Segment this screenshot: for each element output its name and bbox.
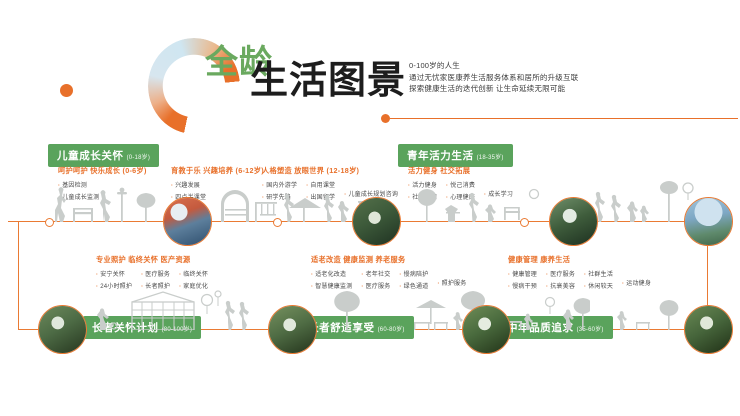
subtitle-line-1: 0-100岁的人生	[409, 60, 578, 72]
badge-children-label: 儿童成长关怀	[57, 150, 124, 162]
photo-elder-garden[interactable]	[684, 305, 733, 354]
bullet-column: 社群生活 休闲较天	[584, 269, 613, 290]
header-rule	[390, 118, 738, 119]
badge-children[interactable]: 儿童成长关怀(0-18岁)	[48, 144, 159, 167]
bullet-column: 医疗服务 抗衰美容	[546, 269, 575, 290]
badge-children-age: (0-18岁)	[127, 155, 150, 161]
block-heading: 适老改造 健康监测 养老服务	[311, 255, 466, 265]
timeline-connector-left	[18, 221, 19, 329]
silhouette-scene-row1-mid	[418, 180, 548, 222]
silhouette-scene-row2-tree	[318, 288, 378, 330]
bullet-item: 安宁关怀	[96, 269, 132, 278]
bullet-item: 适老化改造	[311, 269, 352, 278]
header-rule-dot	[381, 114, 390, 123]
block-eldercare-0: 专业照护 临终关怀 医产资源 安宁关怀 24小时照护 医疗服务 长者照护 临终关…	[96, 255, 208, 290]
bullet-column: 老年社交 医疗服务	[361, 269, 390, 290]
photo-senior-care[interactable]	[38, 305, 87, 354]
bullet-column: 适老化改造 智慧健康监测	[311, 269, 352, 290]
block-seniorcomfort-0: 适老改造 健康监测 养老服务 适老化改造 智慧健康监测 老年社交 医疗服务 慢病…	[311, 255, 466, 290]
bullet-item: 慢病陪护	[399, 269, 428, 278]
block-heading: 育教于乐 兴趣培养 (6-12岁)	[171, 166, 264, 176]
block-heading: 专业照护 临终关怀 医产资源	[96, 255, 208, 265]
page-title: 生活图景	[250, 62, 406, 100]
badge-youth[interactable]: 青年活力生活(18-35岁)	[398, 144, 513, 167]
bullet-item: 临终关怀	[179, 269, 208, 278]
bullet-column: 慢病陪护 绿色通道	[399, 269, 428, 290]
badge-youth-label: 青年活力生活	[407, 150, 474, 162]
block-heading: 健康管理 康养生活	[508, 255, 651, 265]
block-heading: 活力健身 社交拓展	[408, 166, 513, 176]
block-heading: 呵护呵护 快乐成长 (0-6岁)	[58, 166, 147, 176]
photo-childhood-play[interactable]	[163, 197, 212, 246]
bullet-item: 运动健身	[622, 278, 651, 287]
arc-end-dot	[60, 84, 73, 97]
bullet-item: 照护服务	[437, 278, 466, 287]
bullet-column: 照护服务	[437, 269, 466, 290]
block-heading: 人格塑造 放眼世界 (12-18岁)	[262, 166, 398, 176]
bullet-item: 健康管理	[508, 269, 537, 278]
badge-youth-age: (18-35岁)	[477, 155, 504, 161]
subtitle-line-2: 通过无忧家医康养生活服务体系和居所的升级互联	[409, 72, 578, 84]
header-subtitle: 0-100岁的人生 通过无忧家医康养生活服务体系和居所的升级互联 探索健康生活的…	[409, 60, 578, 95]
bullet-item: 社群生活	[584, 269, 613, 278]
photo-young-family[interactable]	[549, 197, 598, 246]
photo-elder-couple[interactable]	[684, 197, 733, 246]
photo-youth-outdoor[interactable]	[352, 197, 401, 246]
silhouette-scene-row2-building	[92, 286, 272, 330]
bullet-column: 运动健身	[622, 269, 651, 290]
bullet-item: 医疗服务	[141, 269, 170, 278]
bullet-item: 医疗服务	[546, 269, 575, 278]
block-midlife-0: 健康管理 康养生活 健康管理 慢病干预 医疗服务 抗衰美容 社群生活 休闲较天 …	[508, 255, 651, 290]
silhouette-scene-row1-left	[45, 186, 170, 222]
infographic-canvas: 全龄 生活图景 0-100岁的人生 通过无忧家医康养生活服务体系和居所的升级互联…	[0, 0, 740, 416]
bullet-item: 老年社交	[361, 269, 390, 278]
photo-midlife-nature[interactable]	[462, 305, 511, 354]
bullet-column: 健康管理 慢病干预	[508, 269, 537, 290]
bullet-item: 兴趣发展	[171, 180, 206, 189]
photo-midlife-leisure[interactable]	[268, 305, 317, 354]
subtitle-line-3: 探索健康生活的迭代创新 让生命延续无限可能	[409, 83, 578, 95]
silhouette-scene-row2-right	[612, 292, 692, 330]
